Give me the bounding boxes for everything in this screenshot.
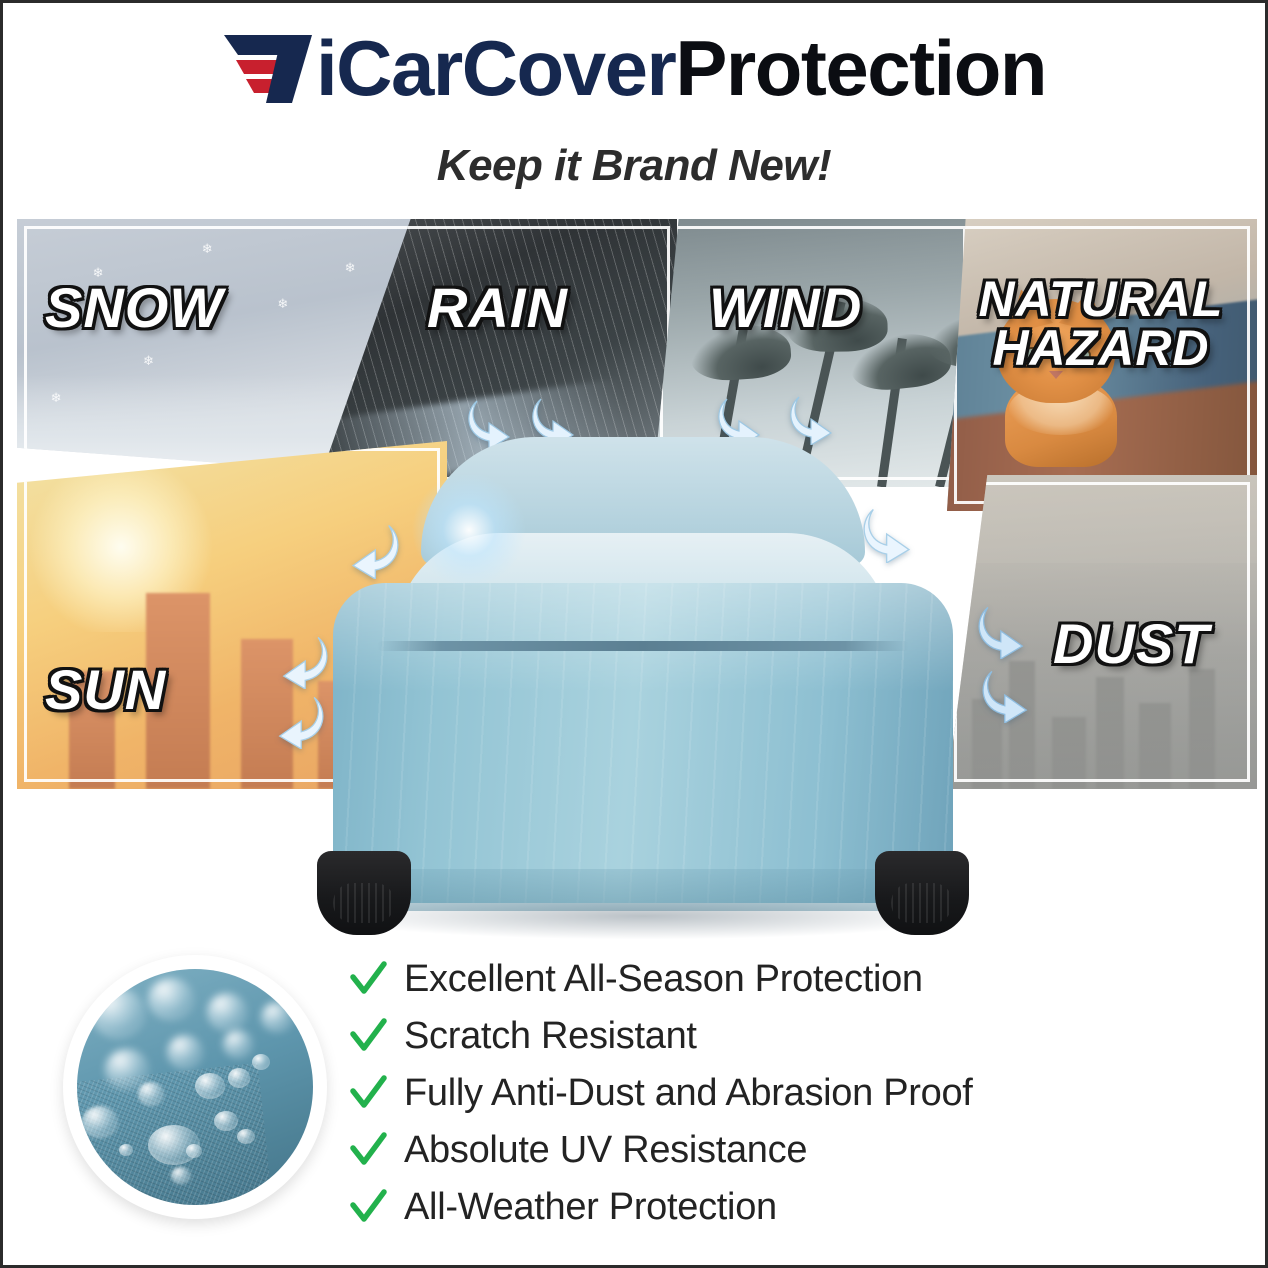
panel-dust: DUST bbox=[947, 475, 1257, 789]
feature-label: Fully Anti-Dust and Abrasion Proof bbox=[404, 1072, 973, 1115]
green-check-icon bbox=[348, 1017, 388, 1057]
panel-label-wind: WIND bbox=[709, 281, 862, 336]
green-check-icon bbox=[348, 1074, 388, 1114]
list-item: All-Weather Protection bbox=[348, 1179, 1168, 1236]
feature-label: Scratch Resistant bbox=[404, 1015, 697, 1058]
header: iCarCoverProtection bbox=[3, 29, 1265, 107]
list-item: Absolute UV Resistance bbox=[348, 1122, 1168, 1179]
green-check-icon bbox=[348, 1188, 388, 1228]
panel-label-snow: SNOW bbox=[45, 281, 223, 336]
green-check-icon bbox=[348, 1131, 388, 1171]
feature-list: Excellent All-Season Protection Scratch … bbox=[348, 951, 1168, 1236]
list-item: Scratch Resistant bbox=[348, 1008, 1168, 1065]
list-item: Excellent All-Season Protection bbox=[348, 951, 1168, 1008]
product-marketing-image: iCarCoverProtection Keep it Brand New! ❄… bbox=[0, 0, 1268, 1268]
deflect-arrow-icon bbox=[979, 667, 1037, 723]
panel-natural-hazard: NATURAL HAZARD bbox=[947, 219, 1257, 511]
tagline: Keep it Brand New! bbox=[3, 141, 1265, 191]
panel-label-sun: SUN bbox=[45, 663, 166, 718]
panel-label-rain: RAIN bbox=[427, 281, 568, 336]
deflect-arrow-icon bbox=[975, 603, 1033, 659]
water-beading-swatch bbox=[63, 955, 327, 1219]
brand-name: iCarCover bbox=[316, 24, 675, 112]
page-title: iCarCoverProtection bbox=[316, 29, 1046, 107]
list-item: Fully Anti-Dust and Abrasion Proof bbox=[348, 1065, 1168, 1122]
feature-label: Absolute UV Resistance bbox=[404, 1129, 807, 1172]
tire-right bbox=[875, 851, 969, 935]
green-check-icon bbox=[348, 960, 388, 1000]
car-with-cover-image bbox=[303, 433, 983, 953]
panel-label-natural-hazard: NATURAL HAZARD bbox=[965, 275, 1237, 373]
feature-label: All-Weather Protection bbox=[404, 1186, 777, 1229]
panel-label-dust: DUST bbox=[1053, 617, 1209, 672]
tire-left bbox=[317, 851, 411, 935]
brand-word: Protection bbox=[675, 24, 1046, 112]
feature-label: Excellent All-Season Protection bbox=[404, 958, 923, 1001]
icarcover-wing-logo-icon bbox=[222, 31, 318, 105]
